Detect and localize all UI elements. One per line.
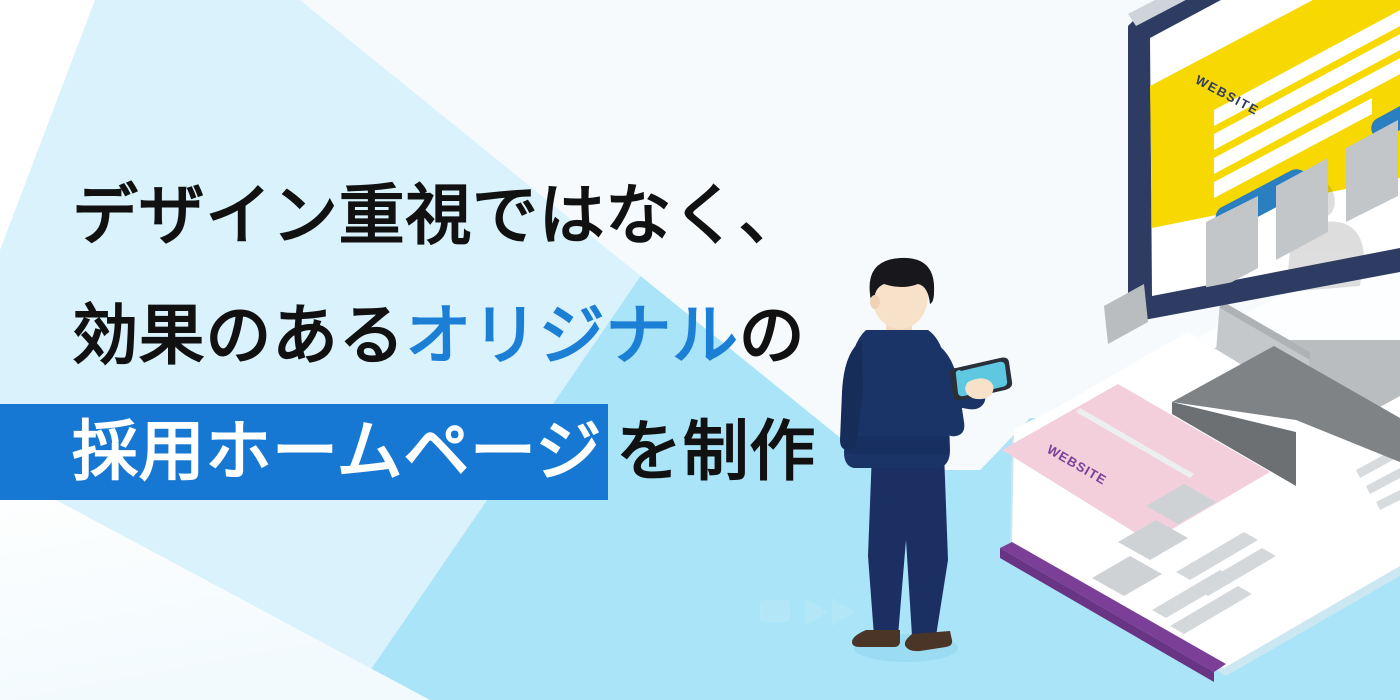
headline-highlight-box: 採用ホームページ [0, 404, 608, 500]
headline-line-1: デザイン重視ではなく、 [0, 182, 900, 248]
headline-line-2-plain-start: 効果のある [72, 298, 405, 372]
monitor-chin-left [1104, 284, 1148, 344]
headline-line-2-accent: オリジナル [405, 298, 738, 372]
headline-line-2-plain-end: の [739, 298, 806, 372]
headline-line-2: 効果のあるオリジナルの [0, 302, 900, 368]
hero-banner: WEBSITE [0, 0, 1400, 700]
headline-line-3: 採用ホームページを制作 [0, 404, 900, 500]
headline-block: デザイン重視ではなく、 効果のあるオリジナルの 採用ホームページを制作 [0, 182, 900, 500]
person-shoe-left [852, 630, 900, 647]
person-hand [965, 378, 993, 399]
headline-line-3-tail: を制作 [616, 414, 816, 488]
